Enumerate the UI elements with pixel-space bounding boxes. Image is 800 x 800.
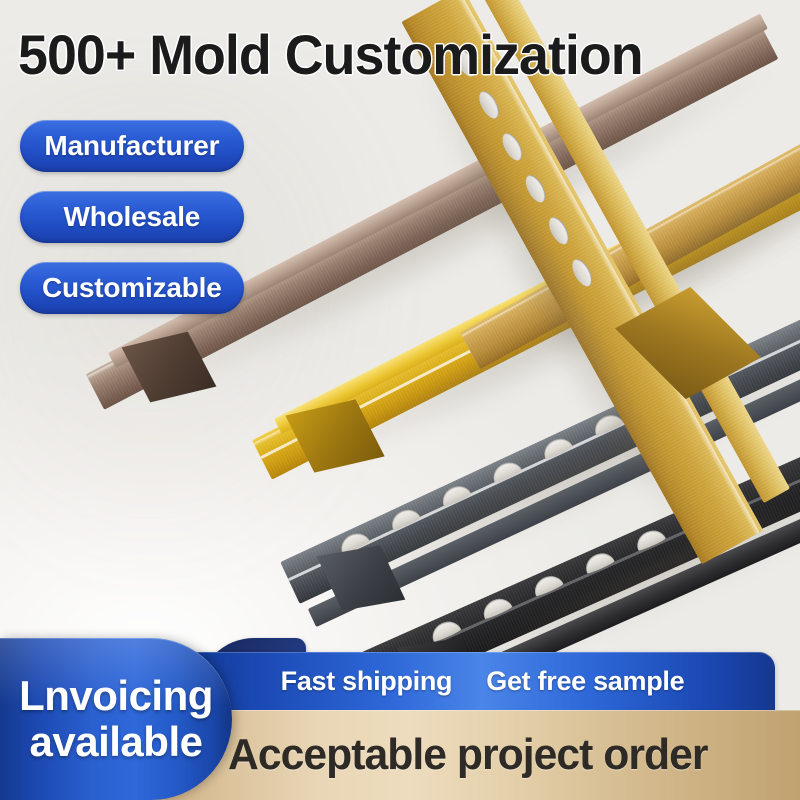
service-free-sample: Get free sample bbox=[486, 666, 684, 697]
invoicing-line-2: available bbox=[30, 720, 203, 764]
invoicing-line-1: Lnvoicing bbox=[19, 674, 213, 718]
bottom-banner: Fast shipping Get free sample Acceptable… bbox=[0, 630, 800, 800]
promo-image-canvas: 500+ Mold Customization Manufacturer Who… bbox=[0, 0, 800, 800]
feature-badge-list: Manufacturer Wholesale Customizable bbox=[20, 120, 244, 314]
badge-wholesale[interactable]: Wholesale bbox=[20, 191, 244, 243]
badge-manufacturer[interactable]: Manufacturer bbox=[20, 120, 244, 172]
project-order-label: Acceptable project order bbox=[228, 730, 708, 780]
project-order-band: Acceptable project order bbox=[150, 710, 800, 800]
badge-customizable[interactable]: Customizable bbox=[20, 262, 244, 314]
page-title: 500+ Mold Customization bbox=[18, 22, 643, 87]
service-highlights-strip: Fast shipping Get free sample bbox=[190, 652, 775, 710]
service-fast-shipping: Fast shipping bbox=[281, 666, 453, 697]
invoicing-panel: Lnvoicing available bbox=[0, 638, 232, 800]
